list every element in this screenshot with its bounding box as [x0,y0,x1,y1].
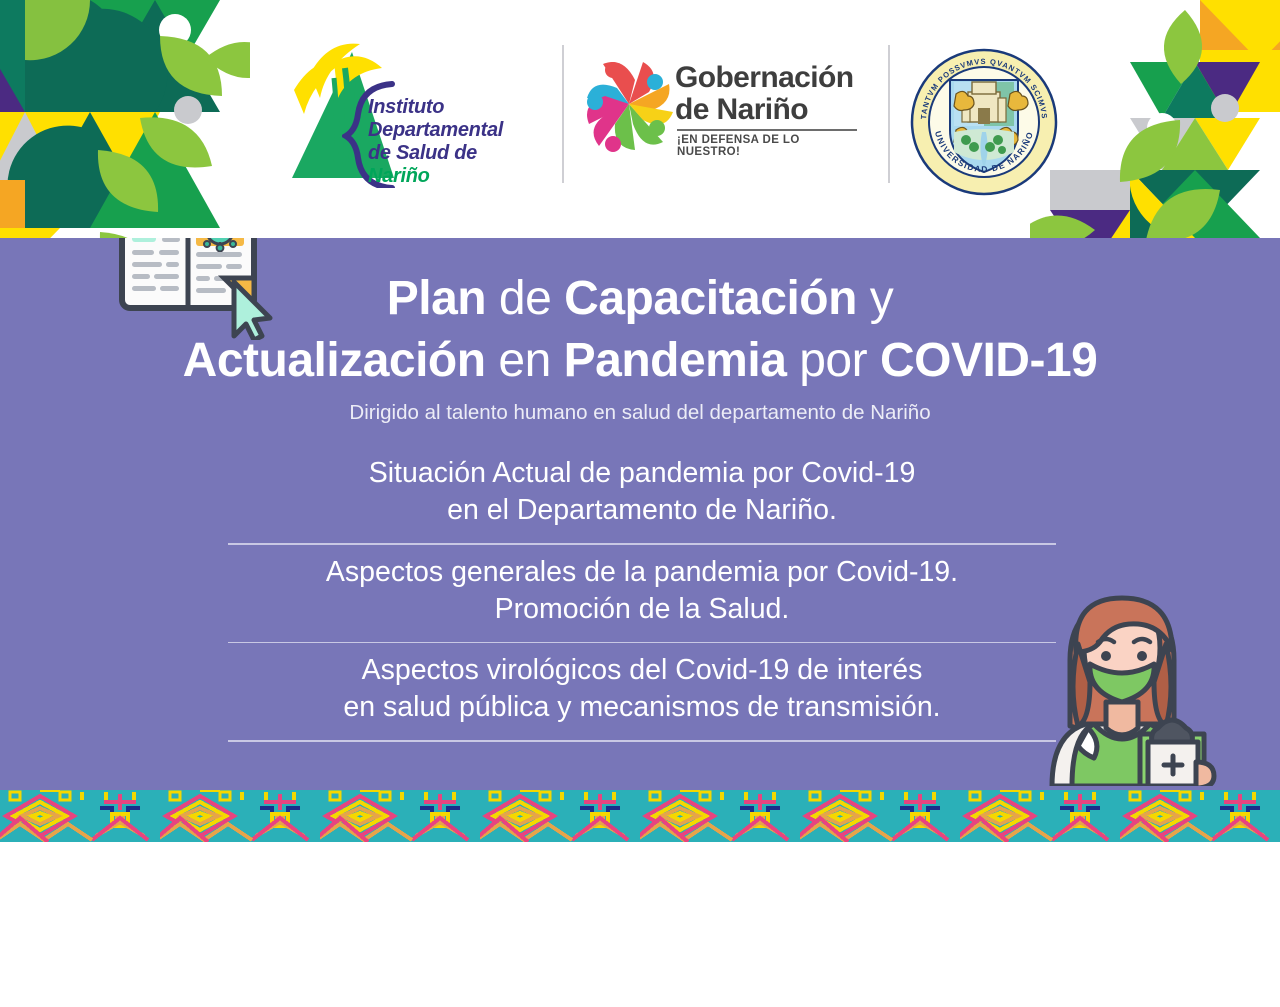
topic-1-line-1: Situación Actual de pandemia por Covid-1… [228,455,1056,492]
title-line-1-run-1: de [486,272,564,325]
topic-2-line-1: Aspectos generales de la pandemia por Co… [228,554,1056,591]
footer-band: www.idsn.gov.co conferencias virtuales p… [0,842,1280,1007]
topic-2-line-2: Promoción de la Salud. [228,591,1056,628]
title-line-2-run-3: por [786,334,880,387]
logo-instituto-departamental-salud: Instituto Departamental de Salud de Nari… [290,38,540,178]
topic-item-1: Situación Actual de pandemia por Covid-1… [228,446,1056,543]
topic-divider-3 [228,740,1056,742]
title-line-1-run-3: y [857,272,893,325]
title-line-1-run-0: Plan [387,272,486,325]
page-title: Plan de Capacitación y Actualización en … [0,268,1280,392]
logo-divider-1 [562,45,564,183]
title-line-2: Actualización en Pandemia por COVID-19 [0,330,1280,392]
logo-gobernacion-de-narino: Gobernación de Nariño ¡EN DEFENSA DE LO … [585,52,860,172]
page-subtitle: Dirigido al talento humano en salud del … [0,401,1280,425]
healthcare-worker-illustration-icon [1036,586,1236,782]
gobernacion-line2: de Nariño [675,94,860,126]
topic-1-line-2: en el Departamento de Nariño. [228,492,1056,529]
main-content-panel: Plan de Capacitación y Actualización en … [0,238,1280,790]
title-line-1-run-2: Capacitación [564,272,857,325]
title-line-2-run-1: en [486,334,564,387]
gobernacion-rule [677,129,857,131]
idsn-line3: de Salud de Nariño [368,142,540,188]
title-line-2-run-4: COVID-19 [880,334,1097,387]
idsn-line3-b: Nariño [368,165,430,187]
idsn-line2: Departamental [368,119,540,142]
topics-list: Situación Actual de pandemia por Covid-1… [228,446,1056,742]
logo-universidad-de-narino: TANTVM POSSVMVS QVANTVM SCIMVS UNIVERSID… [910,48,1058,196]
topic-item-3: Aspectos virológicos del Covid-19 de int… [228,643,1056,740]
title-line-1: Plan de Capacitación y [0,268,1280,330]
idsn-line3-a: de Salud de [368,142,477,164]
gobernacion-tagline: ¡EN DEFENSA DE LO NUESTRO! [677,134,860,158]
header-band: Instituto Departamental de Salud de Nari… [0,0,1280,238]
idsn-line1: Instituto [368,96,540,119]
topic-item-2: Aspectos generales de la pandemia por Co… [228,545,1056,642]
gobernacion-wordmark: Gobernación de Nariño ¡EN DEFENSA DE LO … [675,62,860,158]
topic-3-line-1: Aspectos virológicos del Covid-19 de int… [228,652,1056,689]
gobernacion-line1: Gobernación [675,62,860,94]
decorative-geometric-pattern-left-icon [0,0,250,238]
idsn-wordmark: Instituto Departamental de Salud de Nari… [368,96,540,188]
title-line-2-run-2: Pandemia [564,334,787,387]
title-line-2-run-0: Actualización [183,334,486,387]
poster-root: Instituto Departamental de Salud de Nari… [0,0,1280,1007]
decorative-geometric-pattern-right-icon [1030,0,1280,238]
logo-divider-2 [888,45,890,183]
andean-textile-pattern-strip [0,790,1280,842]
topic-3-line-2: en salud pública y mecanismos de transmi… [228,689,1056,726]
